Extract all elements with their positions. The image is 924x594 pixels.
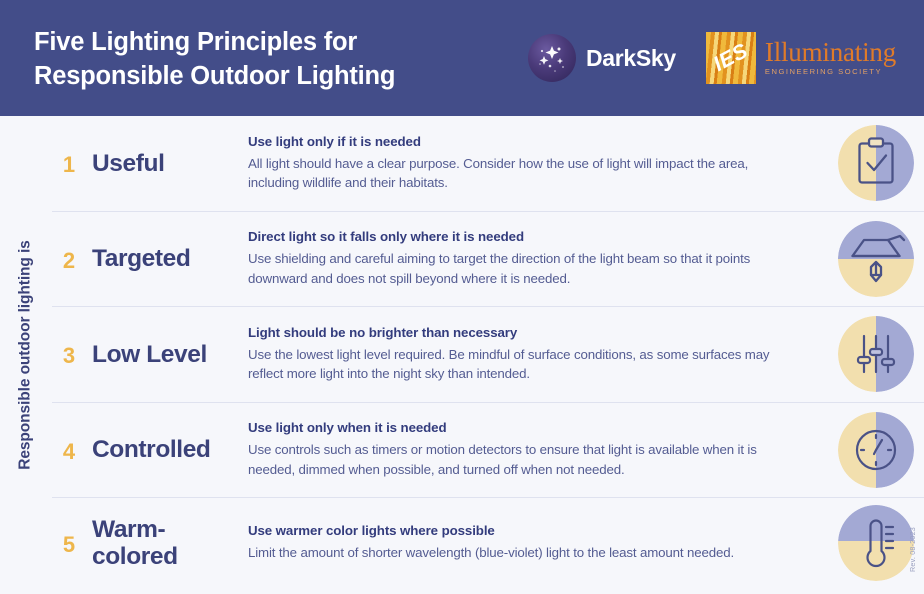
principle-description: Use controls such as timers or motion de… — [248, 440, 795, 479]
principle-name: Controlled — [80, 436, 248, 463]
page-title: Five Lighting Principles for Responsible… — [34, 26, 494, 93]
header-banner: Five Lighting Principles for Responsible… — [0, 0, 924, 116]
logo-group: DarkSky IES Illuminating ENGINEERING SOC… — [528, 28, 896, 88]
shielded-lamp-down-arrow-icon — [838, 221, 914, 297]
darksky-logo[interactable]: DarkSky — [528, 34, 676, 82]
principle-headline: Use warmer color lights where possible — [248, 523, 795, 538]
darksky-wordmark: DarkSky — [586, 45, 676, 72]
darksky-starfield-circle-icon — [528, 34, 576, 82]
principle-name: Targeted — [80, 245, 248, 272]
principle-icon-wrap — [838, 412, 914, 488]
principle-headline: Use light only when it is needed — [248, 420, 795, 435]
list-item[interactable]: 2 Targeted Direct light so it falls only… — [52, 212, 924, 308]
clipboard-check-icon — [838, 125, 914, 201]
thermometer-icon — [838, 505, 914, 581]
ies-subtitle: ENGINEERING SOCIETY — [765, 67, 896, 76]
ies-wordmark: Illuminating ENGINEERING SOCIETY — [765, 40, 896, 76]
principle-number: 5 — [58, 534, 80, 556]
principle-text: Light should be no brighter than necessa… — [248, 325, 813, 384]
ies-mark-icon: IES — [706, 32, 756, 84]
infographic-page: Five Lighting Principles for Responsible… — [0, 0, 924, 594]
list-item[interactable]: 5 Warm-colored Use warmer color lights w… — [52, 498, 924, 588]
principle-description: Limit the amount of shorter wavelength (… — [248, 543, 795, 563]
principle-name: Warm-colored — [80, 516, 248, 571]
principle-description: All light should have a clear purpose. C… — [248, 154, 795, 193]
principle-icon-wrap — [838, 316, 914, 392]
list-item[interactable]: 1 Useful Use light only if it is needed … — [52, 116, 924, 212]
ies-mark-letters: IES — [706, 32, 756, 84]
principle-description: Use the lowest light level required. Be … — [248, 345, 795, 384]
principle-headline: Direct light so it falls only where it i… — [248, 229, 795, 244]
principles-list: 1 Useful Use light only if it is needed … — [52, 116, 924, 594]
list-item[interactable]: 3 Low Level Light should be no brighter … — [52, 307, 924, 403]
principle-text: Use light only if it is needed All light… — [248, 134, 813, 193]
principle-name: Low Level — [80, 341, 248, 368]
revision-tag: Rev. 08-2023 — [905, 514, 921, 584]
vertical-axis-label: Responsible outdoor lighting is — [0, 116, 52, 594]
principle-headline: Use light only if it is needed — [248, 134, 795, 149]
principle-icon-wrap — [838, 505, 914, 581]
page-title-line-2: Responsible Outdoor Lighting — [34, 60, 494, 94]
principle-text: Use warmer color lights where possible L… — [248, 523, 813, 563]
page-title-line-1: Five Lighting Principles for — [34, 26, 494, 60]
principle-headline: Light should be no brighter than necessa… — [248, 325, 795, 340]
ies-name: Illuminating — [765, 40, 896, 66]
principle-number: 1 — [58, 154, 80, 176]
principle-icon-wrap — [838, 221, 914, 297]
principle-number: 2 — [58, 250, 80, 272]
list-item[interactable]: 4 Controlled Use light only when it is n… — [52, 403, 924, 499]
revision-text: Rev. 08-2023 — [909, 526, 918, 571]
principle-number: 3 — [58, 345, 80, 367]
vertical-axis-label-text: Responsible outdoor lighting is — [17, 240, 35, 469]
ies-logo[interactable]: IES Illuminating ENGINEERING SOCIETY — [706, 32, 896, 84]
principle-text: Direct light so it falls only where it i… — [248, 229, 813, 288]
principle-icon-wrap — [838, 125, 914, 201]
clock-timer-icon — [838, 412, 914, 488]
principle-description: Use shielding and careful aiming to targ… — [248, 249, 795, 288]
sliders-icon — [838, 316, 914, 392]
principle-number: 4 — [58, 441, 80, 463]
principle-text: Use light only when it is needed Use con… — [248, 420, 813, 479]
principle-name: Useful — [80, 150, 248, 177]
